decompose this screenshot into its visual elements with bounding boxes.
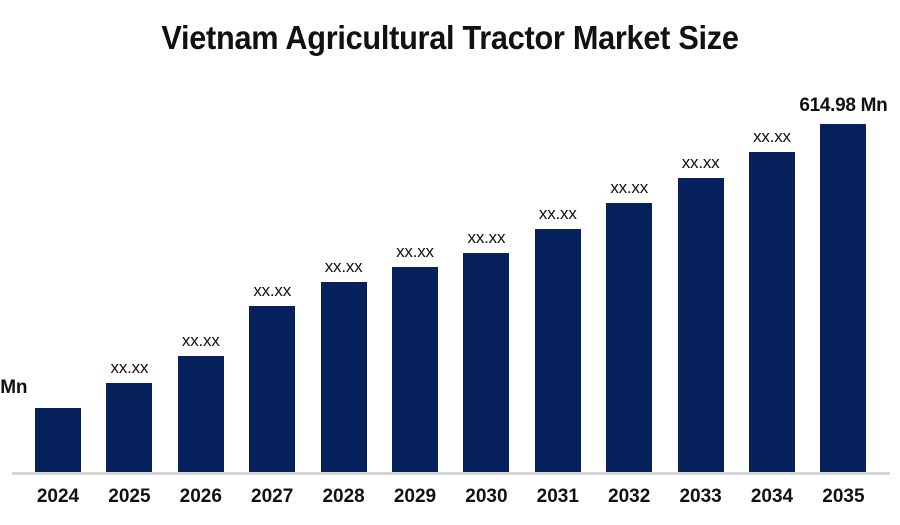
x-tick-label-2032: 2032 — [589, 484, 669, 510]
bar-2027[interactable] — [249, 306, 295, 472]
x-tick-label-2034: 2034 — [732, 484, 812, 510]
chart-container: Vietnam Agricultural Tractor Market Size… — [0, 0, 900, 525]
bar-2035[interactable] — [820, 124, 866, 472]
bar-2026[interactable] — [178, 356, 224, 472]
x-tick-label-2035: 2035 — [803, 484, 883, 510]
bar-2034[interactable] — [749, 152, 795, 472]
bar-2033[interactable] — [678, 178, 724, 472]
bar-value-label-2024: 292.01 Mn — [0, 378, 39, 398]
bar-value-label-2028: xx.xx — [304, 257, 384, 277]
bar-value-label-2029: xx.xx — [375, 242, 455, 262]
bar-value-label-2026: xx.xx — [161, 331, 241, 351]
x-tick-label-2030: 2030 — [446, 484, 526, 510]
plot-area: 292.01 Mnxx.xxxx.xxxx.xxxx.xxxx.xxxx.xxx… — [0, 0, 900, 525]
bar-2024[interactable] — [35, 408, 81, 472]
bar-2025[interactable] — [106, 383, 152, 472]
bar-value-label-2031: xx.xx — [518, 204, 598, 224]
x-tick-label-2025: 2025 — [89, 484, 169, 510]
bar-value-label-2032: xx.xx — [589, 178, 669, 198]
bar-value-label-2025: xx.xx — [89, 358, 169, 378]
bar-2029[interactable] — [392, 267, 438, 472]
x-tick-label-2029: 2029 — [375, 484, 455, 510]
bar-2031[interactable] — [535, 229, 581, 472]
bar-value-label-2034: xx.xx — [732, 127, 812, 147]
x-tick-label-2026: 2026 — [161, 484, 241, 510]
bar-value-label-2027: xx.xx — [232, 281, 312, 301]
bar-2028[interactable] — [321, 282, 367, 472]
x-axis-line — [12, 472, 890, 475]
x-tick-label-2033: 2033 — [661, 484, 741, 510]
bar-value-label-2033: xx.xx — [661, 153, 741, 173]
x-tick-label-2031: 2031 — [518, 484, 598, 510]
x-tick-label-2024: 2024 — [18, 484, 98, 510]
bar-2030[interactable] — [463, 253, 509, 472]
bar-value-label-2035: 614.98 Mn — [783, 96, 900, 116]
x-tick-label-2027: 2027 — [232, 484, 312, 510]
bar-value-label-2030: xx.xx — [446, 228, 526, 248]
bar-2032[interactable] — [606, 203, 652, 472]
x-tick-label-2028: 2028 — [304, 484, 384, 510]
